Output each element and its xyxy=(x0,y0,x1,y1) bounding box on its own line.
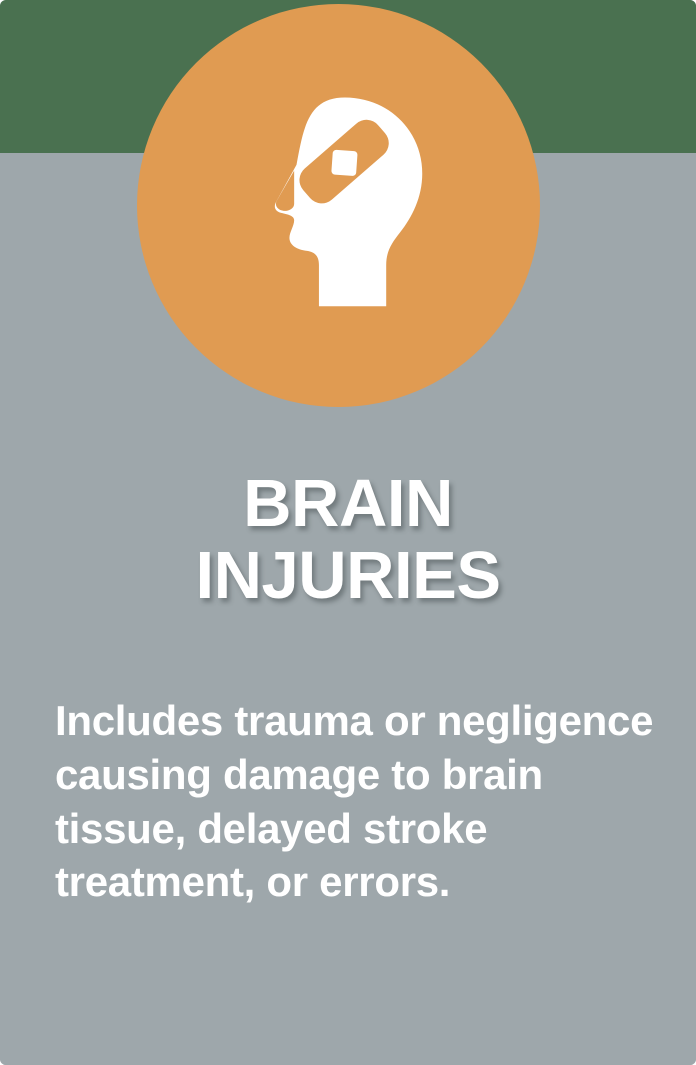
brain-injuries-card: BRAIN INJURIES Includes trauma or neglig… xyxy=(0,0,696,1065)
title-line-1: BRAIN xyxy=(0,468,696,540)
card-description: Includes trauma or negligence causing da… xyxy=(55,694,655,909)
head-with-bandage-icon xyxy=(221,88,457,324)
icon-badge xyxy=(137,4,540,407)
title-line-2: INJURIES xyxy=(0,540,696,612)
page-title: BRAIN INJURIES xyxy=(0,468,696,613)
